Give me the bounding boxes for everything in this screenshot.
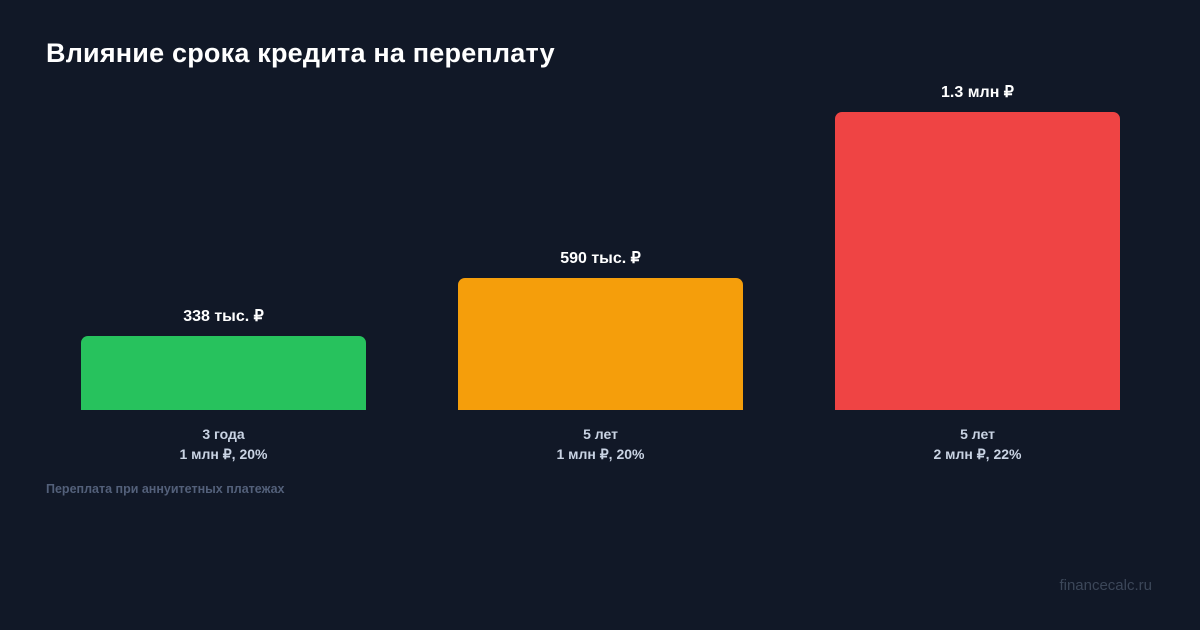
chart-note: Переплата при аннуитетных платежах — [46, 482, 285, 496]
plot-area: 338 тыс. ₽ 3 года 1 млн ₽, 20% 590 тыс. … — [0, 0, 1200, 630]
bar-sublabel: 1 млн ₽, 20% — [458, 444, 743, 464]
watermark: financecalc.ru — [1059, 577, 1152, 594]
bar-value-label: 338 тыс. ₽ — [81, 306, 366, 326]
bar-category-label: 5 лет — [458, 424, 743, 444]
bar-category-label: 3 года — [81, 424, 366, 444]
bar-rect[interactable] — [835, 112, 1120, 410]
bar-caption: 5 лет 1 млн ₽, 20% — [458, 424, 743, 464]
bar-caption: 5 лет 2 млн ₽, 22% — [835, 424, 1120, 464]
bar-value-label: 1.3 млн ₽ — [835, 82, 1120, 102]
bar-caption: 3 года 1 млн ₽, 20% — [81, 424, 366, 464]
bar-sublabel: 2 млн ₽, 22% — [835, 444, 1120, 464]
bar-sublabel: 1 млн ₽, 20% — [81, 444, 366, 464]
bar-value-label: 590 тыс. ₽ — [458, 248, 743, 268]
bar-category-label: 5 лет — [835, 424, 1120, 444]
chart-canvas: Влияние срока кредита на переплату 338 т… — [0, 0, 1200, 630]
bar-rect[interactable] — [458, 278, 743, 410]
bar-rect[interactable] — [81, 336, 366, 410]
